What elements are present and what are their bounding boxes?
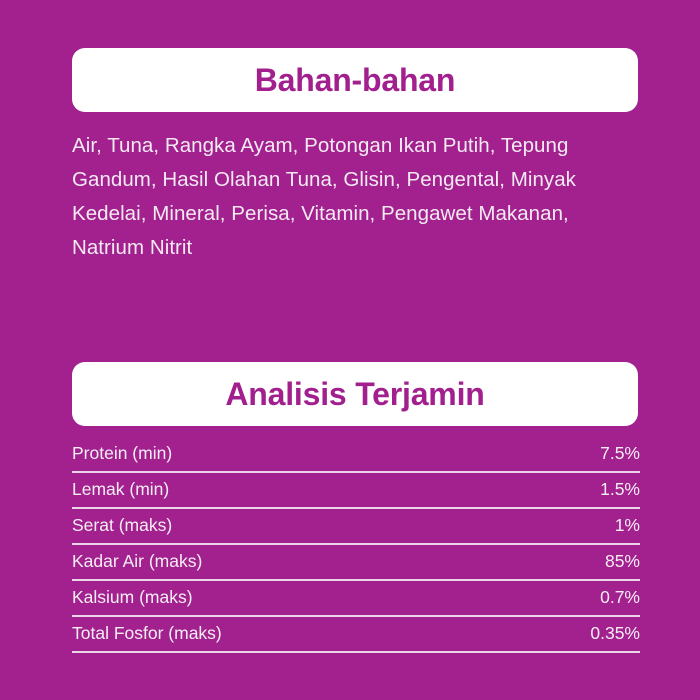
analysis-row-label: Serat (maks)	[72, 517, 172, 535]
analysis-row: Serat (maks)1%	[72, 509, 640, 545]
analysis-row: Protein (min)7.5%	[72, 437, 640, 473]
analysis-row: Kalsium (maks)0.7%	[72, 581, 640, 617]
guaranteed-analysis-table: Protein (min)7.5%Lemak (min)1.5%Serat (m…	[72, 437, 640, 653]
analysis-row: Lemak (min)1.5%	[72, 473, 640, 509]
analysis-row-label: Kalsium (maks)	[72, 589, 193, 607]
ingredients-list-text: Air, Tuna, Rangka Ayam, Potongan Ikan Pu…	[72, 129, 644, 265]
analysis-row-label: Kadar Air (maks)	[72, 553, 202, 571]
analysis-row-value: 85%	[605, 553, 640, 571]
analysis-row-value: 1.5%	[600, 481, 640, 499]
analysis-row-value: 0.35%	[590, 625, 640, 643]
analysis-row-value: 0.7%	[600, 589, 640, 607]
analysis-row-value: 1%	[615, 517, 640, 535]
analysis-row-value: 7.5%	[600, 445, 640, 463]
analysis-row-label: Protein (min)	[72, 445, 172, 463]
analysis-row: Kadar Air (maks)85%	[72, 545, 640, 581]
analysis-title: Analisis Terjamin	[225, 378, 484, 410]
analysis-row: Total Fosfor (maks)0.35%	[72, 617, 640, 653]
ingredients-header-banner: Bahan-bahan	[72, 48, 638, 112]
ingredients-title: Bahan-bahan	[255, 64, 456, 96]
analysis-row-label: Lemak (min)	[72, 481, 169, 499]
analysis-row-label: Total Fosfor (maks)	[72, 625, 222, 643]
product-info-panel: Bahan-bahan Air, Tuna, Rangka Ayam, Poto…	[0, 0, 700, 700]
analysis-header-banner: Analisis Terjamin	[72, 362, 638, 426]
